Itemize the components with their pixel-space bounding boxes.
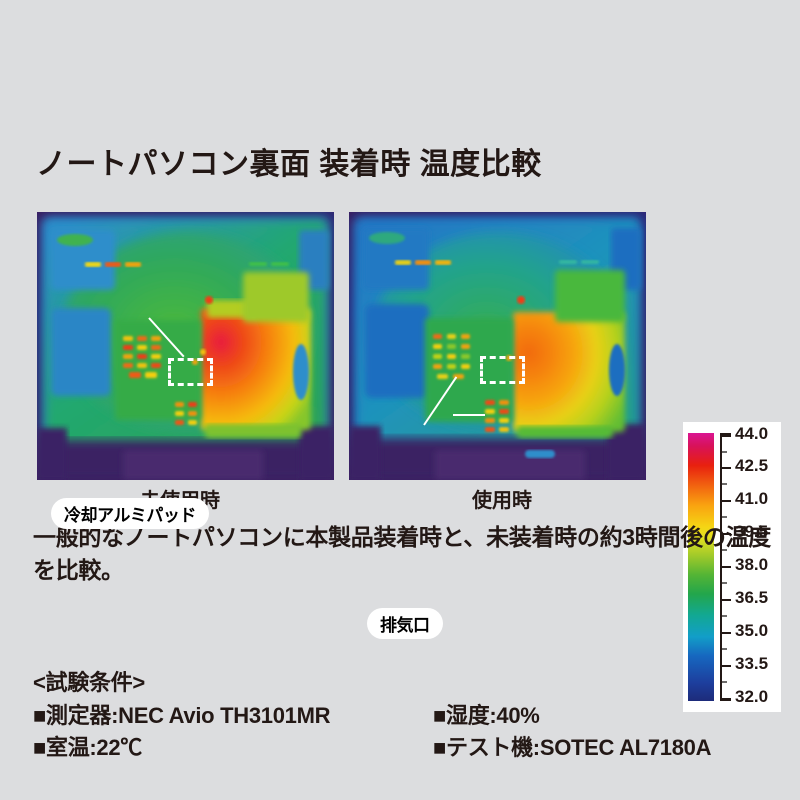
thermal-image-in-use [349,212,646,480]
description-text: 一般的なノートパソコンに本製品装着時と、未装着時の約3時間後の温度を比較。 [33,521,773,586]
pad-region-marker-in-use [480,356,525,384]
caption-in-use: 使用時 [472,484,532,513]
pad-region-marker-unused [168,358,213,386]
condition-test-machine: ■テスト機:SOTEC AL7180A [433,732,711,764]
thermal-canvas-in-use [349,212,646,480]
scale-label-6: 35.0 [735,621,768,641]
conditions-column-1: ■測定器:NEC Avio TH3101MR ■室温:22℃ [33,700,330,764]
page-title: ノートパソコン裏面 装着時 温度比較 [36,139,542,183]
conditions-columns: ■測定器:NEC Avio TH3101MR ■室温:22℃ ■湿度:40% ■… [33,700,773,766]
page-root: ノートパソコン裏面 装着時 温度比較 [0,0,800,800]
scale-label-0: 44.0 [735,424,768,444]
callout-cooling-pad: 冷却アルミパッド [51,498,209,529]
test-conditions: <試験条件> ■測定器:NEC Avio TH3101MR ■室温:22℃ ■湿… [33,665,773,766]
conditions-column-2: ■湿度:40% ■テスト機:SOTEC AL7180A [433,700,711,764]
callout-leader-vent [453,414,485,416]
condition-room-temp: ■室温:22℃ [33,732,330,764]
condition-instrument: ■測定器:NEC Avio TH3101MR [33,700,330,732]
callout-exhaust-port: 排気口 [367,608,443,639]
scale-label-5: 36.5 [735,588,768,608]
conditions-heading: <試験条件> [33,665,773,697]
scale-label-1: 42.5 [735,456,768,476]
thermal-figure-area: 冷却アルミパッド [0,210,800,510]
thermal-image-unused [37,212,334,480]
scale-label-2: 41.0 [735,489,768,509]
thermal-canvas-unused [37,212,334,480]
condition-humidity: ■湿度:40% [433,700,711,732]
